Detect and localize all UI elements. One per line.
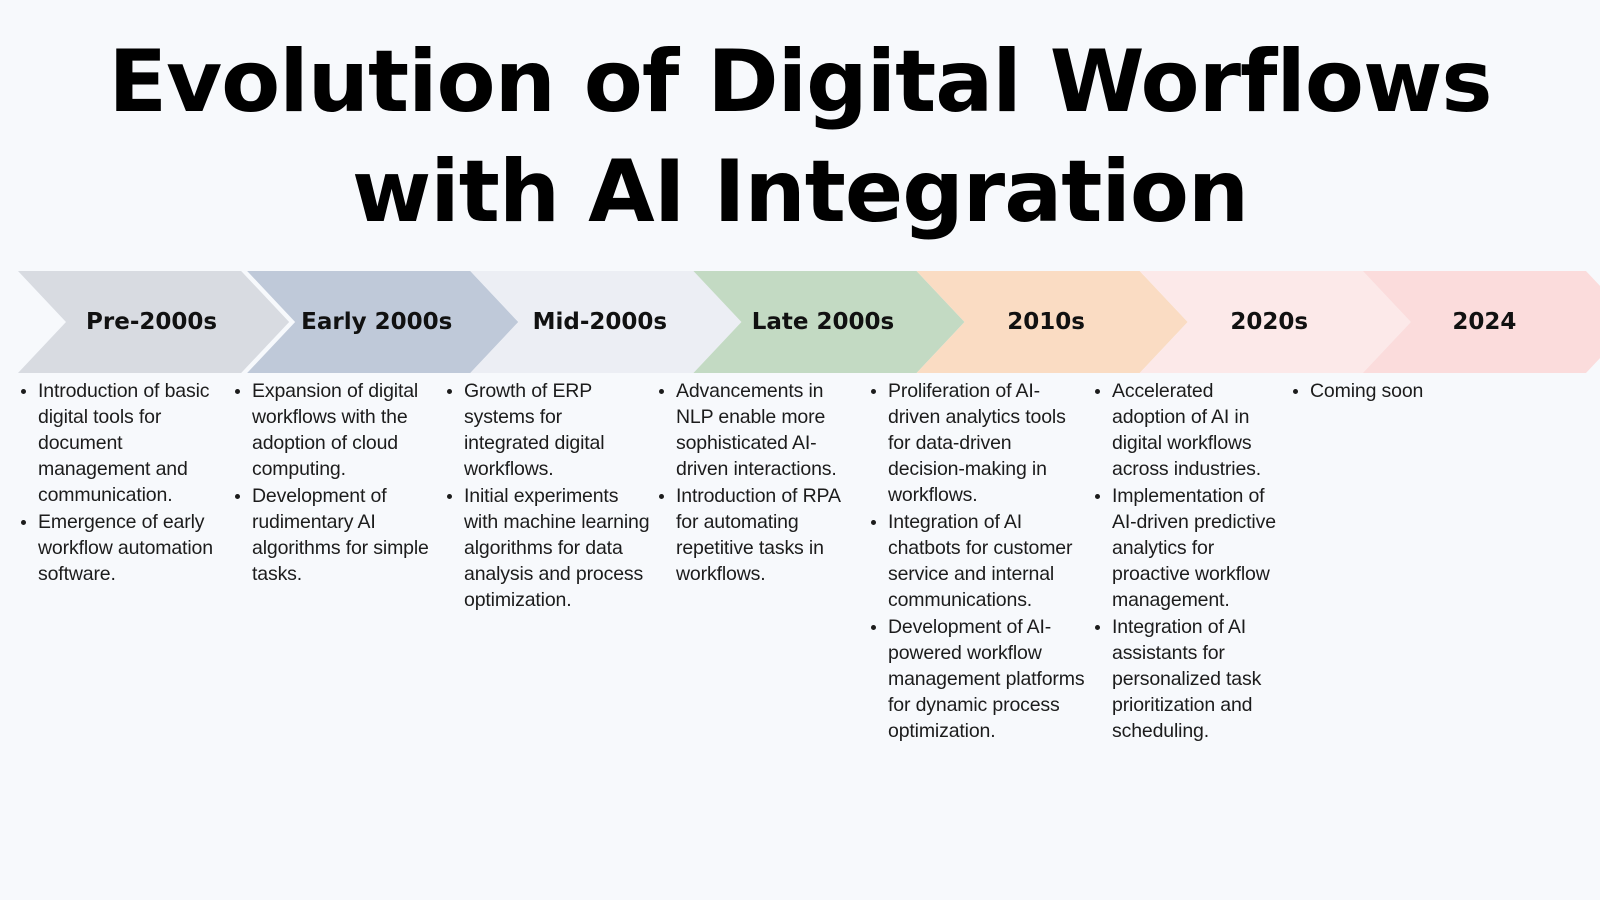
timeline-columns: Introduction of basic digital tools for … [0, 378, 1600, 878]
title-line-1: Evolution of Digital Worflows [0, 24, 1600, 140]
list-item: Accelerated adoption of AI in digital wo… [1088, 378, 1284, 482]
list-item: Emergence of early workflow automation s… [14, 509, 228, 587]
timeline-stage-column-2: Expansion of digital workflows with the … [228, 378, 440, 588]
timeline-stage-chevron-1[interactable]: Pre-2000s [18, 271, 289, 373]
timeline-stage-column-6: Accelerated adoption of AI in digital wo… [1088, 378, 1284, 745]
timeline-stage-label-3: Mid-2000s [533, 309, 668, 335]
bullet-list: Coming soon [1286, 378, 1526, 404]
bullet-list: Expansion of digital workflows with the … [228, 378, 440, 587]
list-item: Development of AI-powered workflow manag… [864, 614, 1086, 744]
timeline-stage-column-7: Coming soon [1286, 378, 1526, 405]
list-item: Expansion of digital workflows with the … [228, 378, 440, 482]
list-item: Introduction of RPA for automating repet… [652, 483, 864, 587]
timeline-chevron-band: Pre-2000sEarly 2000sMid-2000sLate 2000s2… [0, 271, 1600, 373]
timeline-stage-label-6: 2020s [1230, 309, 1308, 335]
timeline-stage-label-4: Late 2000s [752, 309, 894, 335]
infographic-poster: Evolution of Digital Worflows with AI In… [0, 0, 1600, 900]
list-item: Integration of AI chatbots for customer … [864, 509, 1086, 613]
list-item: Introduction of basic digital tools for … [14, 378, 228, 508]
timeline-stage-label-1: Pre-2000s [86, 309, 217, 335]
timeline-stage-column-4: Advancements in NLP enable more sophisti… [652, 378, 864, 588]
list-item: Implementation of AI-driven predictive a… [1088, 483, 1284, 613]
list-item: Advancements in NLP enable more sophisti… [652, 378, 864, 482]
bullet-list: Proliferation of AI-driven analytics too… [864, 378, 1086, 744]
bullet-list: Advancements in NLP enable more sophisti… [652, 378, 864, 587]
timeline-stage-column-3: Growth of ERP systems for integrated dig… [440, 378, 652, 614]
list-item: Coming soon [1286, 378, 1526, 404]
timeline-stage-label-7: 2024 [1452, 309, 1516, 335]
timeline-stage-label-2: Early 2000s [301, 309, 452, 335]
page-title: Evolution of Digital Worflows with AI In… [0, 24, 1600, 250]
title-line-2: with AI Integration [0, 134, 1600, 250]
list-item: Integration of AI assistants for persona… [1088, 614, 1284, 744]
list-item: Development of rudimentary AI algorithms… [228, 483, 440, 587]
timeline-stage-label-5: 2010s [1007, 309, 1085, 335]
bullet-list: Accelerated adoption of AI in digital wo… [1088, 378, 1284, 744]
bullet-list: Growth of ERP systems for integrated dig… [440, 378, 652, 613]
bullet-list: Introduction of basic digital tools for … [14, 378, 228, 587]
list-item: Growth of ERP systems for integrated dig… [440, 378, 652, 482]
timeline-stage-column-5: Proliferation of AI-driven analytics too… [864, 378, 1086, 745]
list-item: Proliferation of AI-driven analytics too… [864, 378, 1086, 508]
timeline-stage-column-1: Introduction of basic digital tools for … [14, 378, 228, 588]
list-item: Initial experiments with machine learnin… [440, 483, 652, 613]
